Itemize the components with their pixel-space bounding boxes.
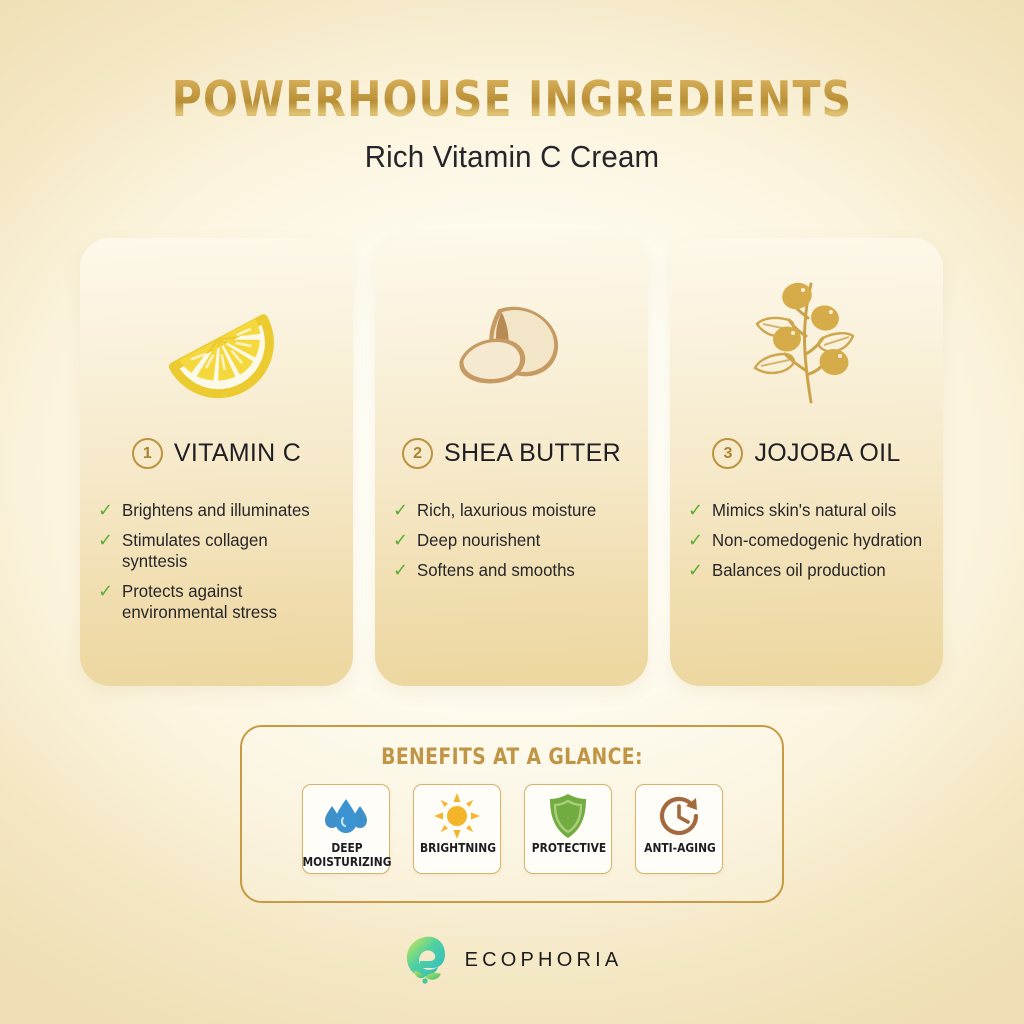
ecophoria-e-leaf-mark xyxy=(402,932,454,989)
benefit-tile-brightning[interactable]: BRIGHTNING xyxy=(413,784,501,874)
shea-nuts-icon xyxy=(375,272,648,408)
list-item: ✓ Protects against environmental stress xyxy=(98,581,346,623)
list-item-label: Stimulates collagen synttesis xyxy=(122,530,337,572)
list-item-label: Balances oil production xyxy=(712,560,886,581)
list-item: ✓ Brightens and illuminates xyxy=(98,500,346,521)
benefit-list: ✓ Brightens and illuminates ✓ Stimulates… xyxy=(98,500,346,632)
page-subtitle: Rich Vitamin C Cream xyxy=(26,139,999,175)
card-header: 1 VITAMIN C xyxy=(80,438,353,469)
check-icon: ✓ xyxy=(393,530,408,550)
card-number-badge: 1 xyxy=(132,438,163,469)
card-number-badge: 3 xyxy=(712,438,743,469)
benefit-tile-label: PROTECTIVE xyxy=(515,841,621,855)
card-title: VITAMIN C xyxy=(174,439,301,468)
list-item-label: Softens and smooths xyxy=(417,560,575,581)
ingredient-card: 3 JOJOBA OIL ✓ Mimics skin's natural oil… xyxy=(670,238,943,686)
card-number-badge: 2 xyxy=(402,438,433,469)
benefit-list: ✓ Rich, laxurious moisture ✓ Deep nouris… xyxy=(393,500,641,590)
benefit-list: ✓ Mimics skin's natural oils ✓ Non-comed… xyxy=(688,500,936,590)
benefit-tile-label: DEEP MOISTURIZING xyxy=(293,841,399,868)
list-item-label: Rich, laxurious moisture xyxy=(417,500,596,521)
list-item: ✓ Deep nourishent xyxy=(393,530,641,551)
list-item: ✓ Softens and smooths xyxy=(393,560,641,581)
ingredient-card: 1 VITAMIN C ✓ Brightens and illuminates … xyxy=(80,238,353,686)
benefits-title: BENEFITS AT A GLANCE: xyxy=(256,745,769,770)
list-item-label: Non-comedogenic hydration xyxy=(712,530,922,551)
water-drops-icon xyxy=(303,791,389,841)
list-item: ✓ Rich, laxurious moisture xyxy=(393,500,641,521)
list-item-label: Deep nourishent xyxy=(417,530,540,551)
benefits-panel: BENEFITS AT A GLANCE: DEEP MOISTURIZING xyxy=(240,725,784,903)
header: POWERHOUSE INGREDIENTS Rich Vitamin C Cr… xyxy=(0,74,1024,175)
benefit-tile-moisturizing[interactable]: DEEP MOISTURIZING xyxy=(302,784,390,874)
check-icon: ✓ xyxy=(98,530,113,550)
brand-logo: ECOPHORIA xyxy=(0,932,1024,989)
jojoba-branch-icon xyxy=(670,272,943,408)
check-icon: ✓ xyxy=(98,500,113,520)
check-icon: ✓ xyxy=(688,500,703,520)
ingredient-cards: 1 VITAMIN C ✓ Brightens and illuminates … xyxy=(80,238,944,686)
check-icon: ✓ xyxy=(393,560,408,580)
brand-wordmark: ECOPHORIA xyxy=(465,949,623,972)
list-item-label: Mimics skin's natural oils xyxy=(712,500,896,521)
list-item-label: Protects against environmental stress xyxy=(122,581,337,623)
benefit-tile-label: BRIGHTNING xyxy=(404,841,510,855)
benefit-tile-label: ANTI-AGING xyxy=(626,841,732,855)
ingredient-card: 2 SHEA BUTTER ✓ Rich, laxurious moisture… xyxy=(375,238,648,686)
lemon-slice-icon xyxy=(80,272,353,408)
sun-icon xyxy=(414,791,500,841)
page-title: POWERHOUSE INGREDIENTS xyxy=(36,74,988,125)
benefit-tile-anti-aging[interactable]: ANTI-AGING xyxy=(635,784,723,874)
infographic-canvas: POWERHOUSE INGREDIENTS Rich Vitamin C Cr… xyxy=(0,0,1024,1024)
list-item: ✓ Stimulates collagen synttesis xyxy=(98,530,346,572)
check-icon: ✓ xyxy=(688,560,703,580)
list-item: ✓ Mimics skin's natural oils xyxy=(688,500,936,521)
list-item: ✓ Balances oil production xyxy=(688,560,936,581)
benefit-tile-protective[interactable]: PROTECTIVE xyxy=(524,784,612,874)
card-title: JOJOBA OIL xyxy=(754,439,900,468)
list-item: ✓ Non-comedogenic hydration xyxy=(688,530,936,551)
card-header: 2 SHEA BUTTER xyxy=(375,438,648,469)
shield-icon xyxy=(525,791,611,841)
card-title: SHEA BUTTER xyxy=(444,439,621,468)
clock-rotate-icon xyxy=(636,791,722,841)
check-icon: ✓ xyxy=(688,530,703,550)
check-icon: ✓ xyxy=(393,500,408,520)
card-header: 3 JOJOBA OIL xyxy=(670,438,943,469)
check-icon: ✓ xyxy=(98,581,113,601)
list-item-label: Brightens and illuminates xyxy=(122,500,310,521)
benefit-tiles: DEEP MOISTURIZING xyxy=(242,784,782,874)
